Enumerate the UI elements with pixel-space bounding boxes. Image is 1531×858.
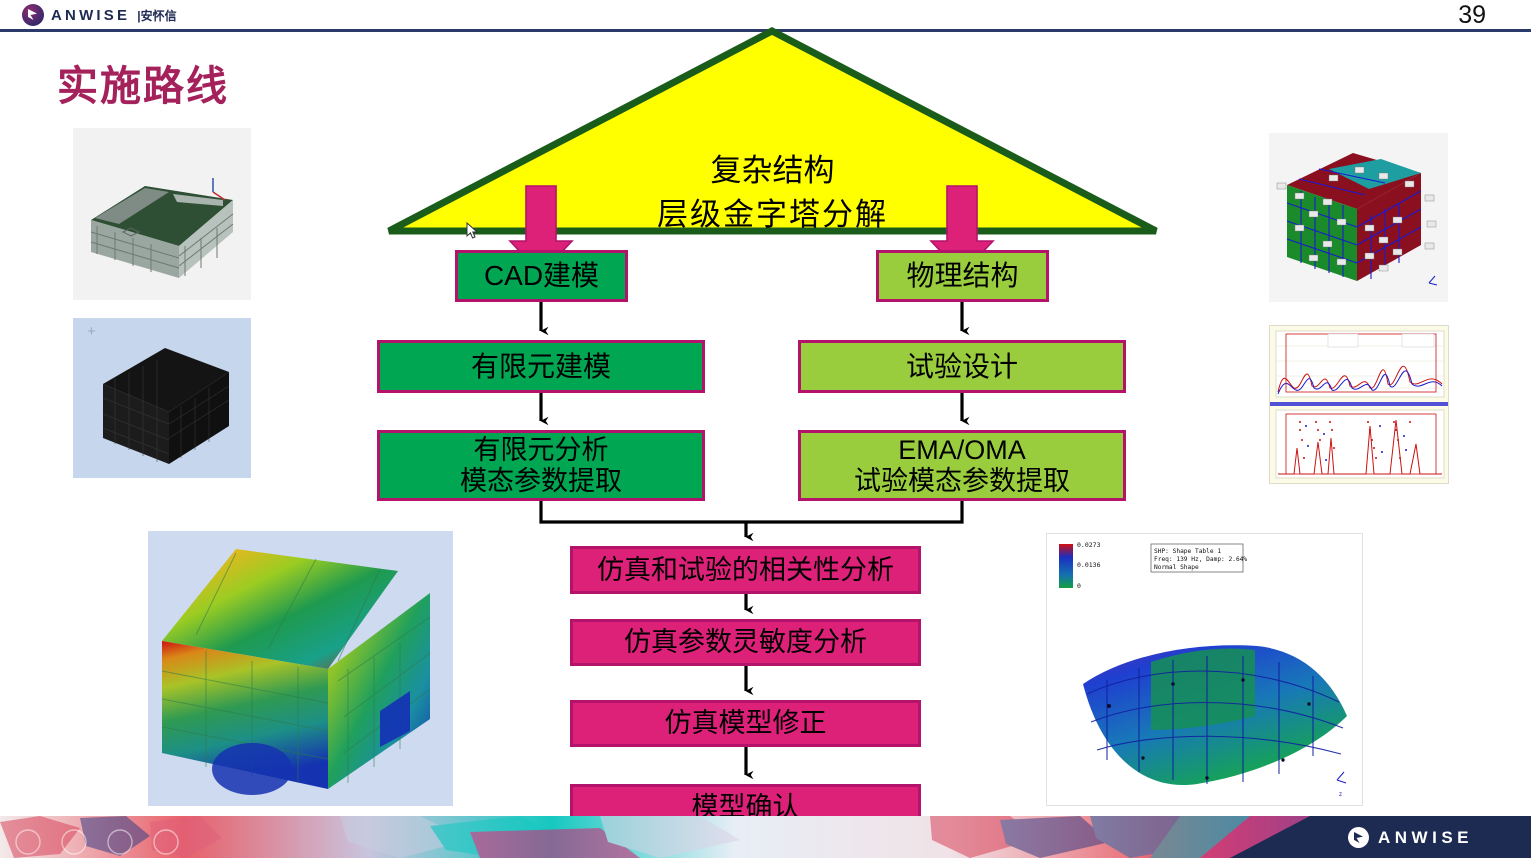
pyramid-caption-line1: 复杂结构	[385, 149, 1160, 193]
shape-annotation-line2: Freq: 139 Hz, Damp: 2.64%	[1154, 556, 1247, 563]
test-measurement-geometry	[1269, 133, 1448, 302]
experimental-mode-shape-viewer: 0.0273 0.0136 0 SHP: Shape Table 1 Freq:…	[1046, 533, 1363, 806]
anwise-bird-mark-icon	[1348, 827, 1369, 848]
pyramid-banner: 复杂结构 层级金字塔分解	[385, 27, 1160, 235]
colorbar-max: 0.0273	[1077, 541, 1101, 549]
flow-box-test-design[interactable]: 试验设计	[798, 340, 1126, 393]
frf-and-stability-diagram	[1269, 325, 1449, 484]
flow-box-cad-modeling[interactable]: CAD建模	[455, 250, 628, 302]
pyramid-caption-line2: 层级金字塔分解	[385, 193, 1160, 237]
flow-box-fe-analysis[interactable]: 有限元分析 模态参数提取	[377, 430, 705, 501]
fe-mesh-thumbnail: +	[73, 318, 251, 478]
footer-decorative-band	[0, 816, 1531, 858]
brand-logo: ANWISE |安怀信	[22, 3, 177, 27]
merge-left-branch	[541, 501, 746, 522]
shape-annotation-line3: Normal Shape	[1154, 564, 1199, 571]
cad-geometry-thumbnail	[73, 128, 251, 300]
flow-box-fe-analysis-line2: 模态参数提取	[460, 466, 622, 496]
brand-logo-chinese: |安怀信	[137, 7, 176, 24]
brand-logo-text: ANWISE	[51, 7, 130, 24]
page-number: 39	[1458, 1, 1486, 30]
footer-brand-logo: ANWISE	[1348, 827, 1473, 848]
flow-box-fe-modeling[interactable]: 有限元建模	[377, 340, 705, 393]
colorbar-min: 0	[1077, 582, 1081, 590]
flow-box-fe-analysis-line1: 有限元分析	[460, 435, 622, 465]
fe-mode-shape-contour	[148, 531, 453, 806]
pyramid-caption: 复杂结构 层级金字塔分解	[385, 149, 1160, 237]
flow-box-correlation-analysis[interactable]: 仿真和试验的相关性分析	[570, 546, 921, 594]
slide-footer: ANWISE	[0, 816, 1531, 858]
flow-box-physical-structure[interactable]: 物理结构	[876, 250, 1049, 302]
page-title: 实施路线	[57, 52, 229, 112]
shape-annotation-line1: SHP: Shape Table 1	[1154, 548, 1221, 555]
colorbar-mid: 0.0136	[1077, 561, 1101, 569]
mouse-cursor-icon	[466, 222, 480, 240]
flow-box-ema-oma-line2: 试验模态参数提取	[854, 466, 1070, 496]
flow-box-ema-oma-line1: EMA/OMA	[854, 435, 1070, 465]
anwise-bird-mark-icon	[22, 4, 44, 26]
svg-text:z: z	[1339, 792, 1342, 798]
slide-header: ANWISE |安怀信 39	[0, 0, 1531, 30]
flow-box-sensitivity-analysis[interactable]: 仿真参数灵敏度分析	[570, 619, 921, 666]
footer-brand-text: ANWISE	[1378, 828, 1473, 848]
svg-text:+: +	[87, 323, 96, 340]
flow-box-ema-oma[interactable]: EMA/OMA 试验模态参数提取	[798, 430, 1126, 501]
merge-right-branch	[746, 501, 962, 522]
flow-box-model-updating[interactable]: 仿真模型修正	[570, 700, 921, 747]
